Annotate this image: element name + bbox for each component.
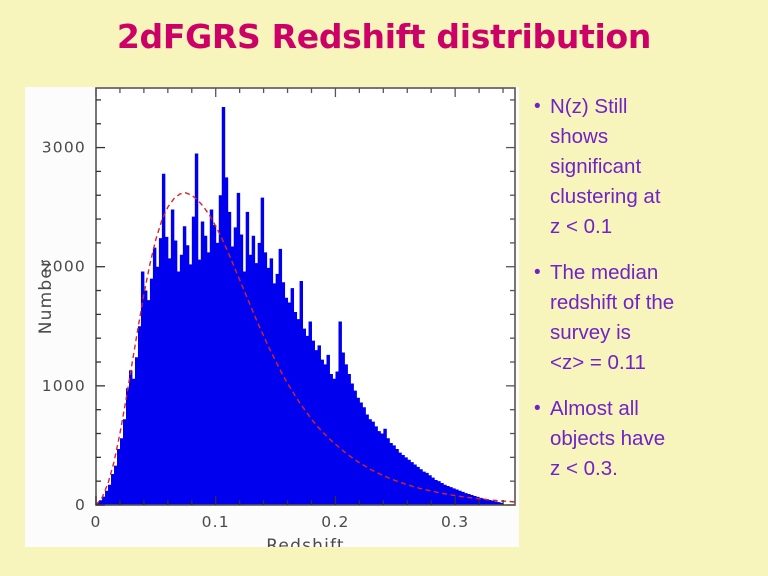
redshift-histogram-chart: 00.10.20.30100020003000RedshiftNumber <box>25 87 519 547</box>
list-item: • Almost all objects have z < 0.3. <box>528 394 764 484</box>
x-tick-label: 0.2 <box>321 513 349 531</box>
bullet-dot-icon: • <box>528 92 550 122</box>
bullet-text: The median redshift of the survey is <z>… <box>550 258 764 378</box>
slide-root: 2dFGRS Redshift distribution 00.10.20.30… <box>0 0 768 576</box>
y-tick-label: 3000 <box>42 139 86 157</box>
y-axis-title: Number <box>36 259 56 335</box>
x-tick-label: 0 <box>90 513 101 531</box>
x-tick-label: 0.3 <box>441 513 469 531</box>
figure-panel: 00.10.20.30100020003000RedshiftNumber <box>25 87 519 547</box>
x-tick-label: 0.1 <box>202 513 230 531</box>
bullet-dot-icon: • <box>528 394 550 424</box>
page-title: 2dFGRS Redshift distribution <box>0 18 768 56</box>
y-tick-label: 1000 <box>42 377 86 395</box>
list-item: • The median redshift of the survey is <… <box>528 258 764 378</box>
bullet-text: N(z) Still shows significant clustering … <box>550 92 764 242</box>
bullet-list: • N(z) Still shows significant clusterin… <box>528 92 764 500</box>
bullet-text: Almost all objects have z < 0.3. <box>550 394 764 484</box>
bullet-dot-icon: • <box>528 258 550 288</box>
y-tick-label: 0 <box>75 496 86 514</box>
list-item: • N(z) Still shows significant clusterin… <box>528 92 764 242</box>
x-axis-title: Redshift <box>266 536 345 547</box>
